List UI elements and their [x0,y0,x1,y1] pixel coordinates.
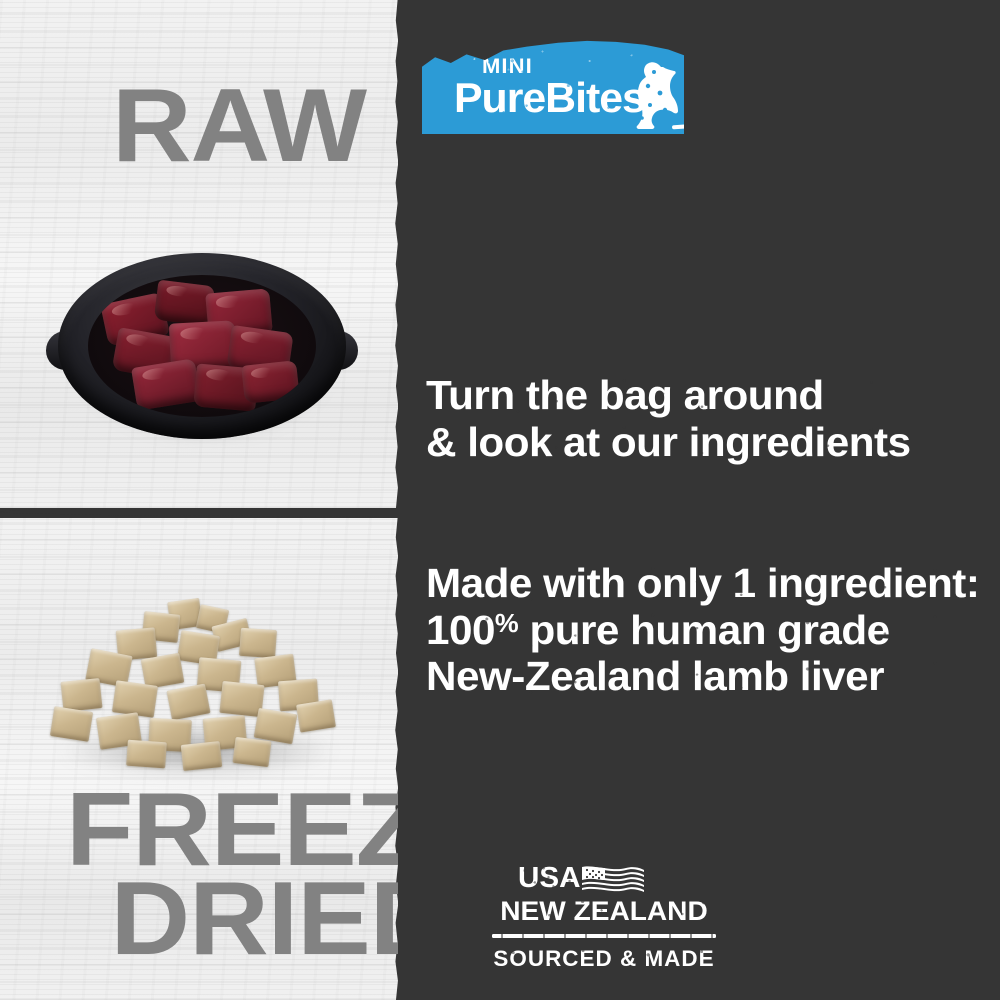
headline-turn-bag: Turn the bag around & look at our ingred… [426,372,911,465]
percent-symbol: % [495,608,518,638]
dish-interior [88,275,316,418]
product-infographic: RAW [0,0,1000,1000]
badge-new-zealand-label: NEW ZEALAND [485,896,722,927]
raw-liver-photo [52,236,352,452]
ingredient-percent-value: 100 [426,607,495,653]
message-panel [398,0,1000,1000]
origin-badge: USA NEW ZEALAND SOURCED & MADE [490,862,718,972]
logo-purebites-text: PureBites [454,74,645,122]
usa-flag-icon [582,865,644,892]
headline-ingredients-line1: Made with only 1 ingredient: [426,560,979,607]
headline-ingredients-line2: 100% pure human grade [426,607,979,654]
headline-ingredients-line3: New-Zealand lamb liver [426,653,979,700]
badge-sourced-made-label: SOURCED & MADE [488,946,721,972]
raw-label: RAW [112,82,366,171]
ingredient-grade-text: pure human grade [518,607,889,653]
badge-usa-row: USA [490,862,718,896]
headline-ingredients: Made with only 1 ingredient: 100% pure h… [426,560,979,700]
headline-turn-bag-line1: Turn the bag around [426,372,911,419]
headline-turn-bag-line2: & look at our ingredients [426,419,911,466]
badge-usa-label: USA [518,862,580,895]
badge-divider-rule [492,934,716,938]
sitting-dog-icon [620,60,692,134]
freeze-dried-cubes-photo [36,596,360,782]
